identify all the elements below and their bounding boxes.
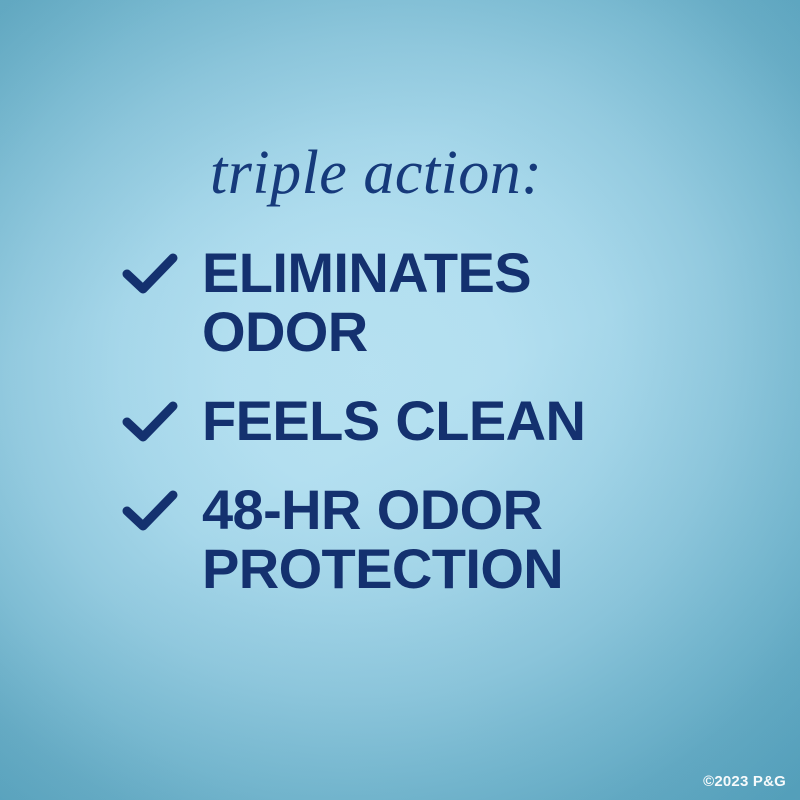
list-item: FEELS CLEAN <box>122 391 722 450</box>
list-item: ELIMINATES ODOR <box>122 243 722 361</box>
page-title: triple action: <box>210 141 542 205</box>
checkmark-icon <box>122 400 178 444</box>
checkmark-icon <box>122 252 178 296</box>
list-item: 48-HR ODOR PROTECTION <box>122 480 722 598</box>
claims-list: ELIMINATES ODOR FEELS CLEAN 48-HR ODOR P… <box>122 243 722 598</box>
claim-label: ELIMINATES ODOR <box>202 243 672 361</box>
copyright-notice: ©2023 P&G <box>703 773 786 790</box>
product-claims-poster: triple action: ELIMINATES ODOR FEELS CLE… <box>0 0 800 800</box>
claim-label: 48-HR ODOR PROTECTION <box>202 480 672 598</box>
checkmark-icon <box>122 489 178 533</box>
claim-label: FEELS CLEAN <box>202 391 672 450</box>
poster-content: triple action: ELIMINATES ODOR FEELS CLE… <box>0 0 800 800</box>
